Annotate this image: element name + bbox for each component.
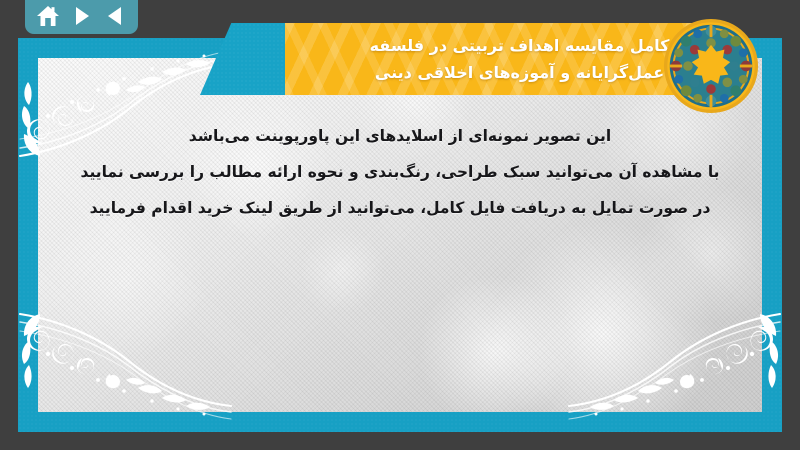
- title-banner: کامل مقایسه اهداف تربیتی در فلسفه عمل‌گر…: [200, 23, 720, 95]
- navigation-button-group: [25, 0, 138, 34]
- banner-gold-plate: کامل مقایسه اهداف تربیتی در فلسفه عمل‌گر…: [285, 23, 720, 95]
- banner-teal-tail: [200, 23, 292, 95]
- title-line-2: عمل‌گرایانه و آموزه‌های اخلاقی دینی: [375, 59, 664, 86]
- body-line-1: این تصویر نمونه‌ای از اسلایدهای این پاور…: [40, 118, 760, 154]
- slide-content-area: [38, 58, 762, 412]
- home-icon: [36, 5, 60, 27]
- back-button[interactable]: [101, 3, 129, 29]
- background-weave-texture: [38, 58, 762, 412]
- title-line-1: کامل مقایسه اهداف تربیتی در فلسفه: [370, 32, 670, 59]
- slide-title: کامل مقایسه اهداف تربیتی در فلسفه عمل‌گر…: [285, 23, 720, 95]
- banner-dot-texture: [200, 23, 292, 95]
- body-line-2: با مشاهده آن می‌توانید سبک طراحی، رنگ‌بن…: [40, 154, 760, 190]
- home-button[interactable]: [34, 3, 62, 29]
- triangle-right-icon: [71, 6, 93, 26]
- forward-button[interactable]: [68, 3, 96, 29]
- top-toolbar: کامل مقایسه اهداف تربیتی در فلسفه عمل‌گر…: [0, 0, 800, 38]
- body-line-3: در صورت تمایل به دریافت فایل کامل، می‌تو…: [40, 190, 760, 226]
- persian-rosette-ornament: [663, 18, 759, 114]
- slide-viewer: این تصویر نمونه‌ای از اسلایدهای این پاور…: [0, 0, 800, 450]
- slide-body-text: این تصویر نمونه‌ای از اسلایدهای این پاور…: [40, 118, 760, 226]
- triangle-left-icon: [104, 6, 126, 26]
